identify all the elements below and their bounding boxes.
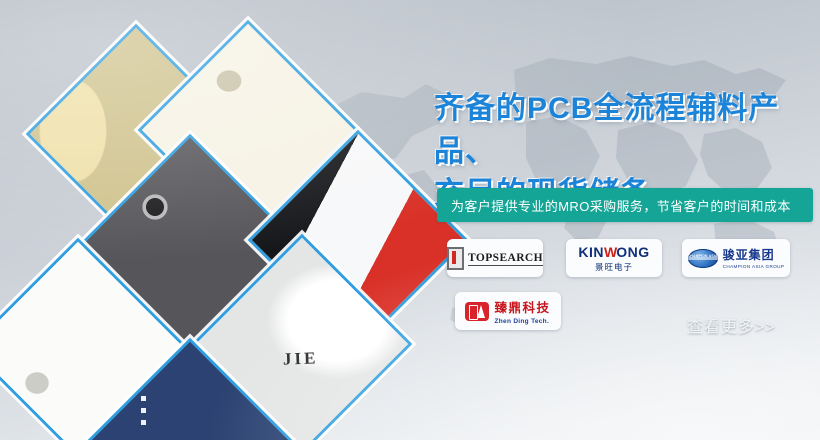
partner-logo-zhen-ding-label-cn: 臻鼎科技	[494, 301, 550, 315]
headline-line-1: 齐备的PCB全流程辅料产品、	[434, 92, 779, 168]
partner-logo-kinwong[interactable]: KINWONG 景旺电子	[566, 239, 662, 277]
subtitle-text: 为客户提供专业的MRO采购服务，节省客户的时间和成本	[437, 196, 791, 215]
topsearch-mark-icon	[447, 247, 464, 270]
partner-logo-zhen-ding-label-en: Zhen Ding Tech.	[494, 318, 550, 325]
partner-logo-champion-asia[interactable]: CHAMPION ASIA 骏亚集团 CHAMPION ASIA GROUP	[682, 239, 790, 277]
champion-asia-globe-icon: CHAMPION ASIA	[688, 249, 718, 268]
label-print-text: JIE	[283, 348, 319, 369]
subtitle-bar: 为客户提供专业的MRO采购服务，节省客户的时间和成本	[437, 188, 813, 222]
partner-logo-zhen-ding[interactable]: 臻鼎科技 Zhen Ding Tech.	[455, 292, 561, 330]
kinwong-w-icon: W	[604, 244, 616, 260]
kinwong-suffix: ONG	[616, 244, 649, 260]
partner-logo-champion-asia-label-cn: 骏亚集团	[723, 248, 775, 262]
blue-sheet-corner-dots	[133, 389, 146, 425]
partner-logo-kinwong-label-cn: 景旺电子	[578, 263, 649, 272]
promo-banner: JIE 齐备的PCB全流程辅料产品、 充足的现货储备 为客户提供专业的MRO采购…	[0, 0, 820, 440]
partner-logo-champion-asia-label-en: CHAMPION ASIA GROUP	[723, 265, 785, 270]
kinwong-prefix: KIN	[578, 244, 604, 260]
view-more-link[interactable]: 查看更多>>	[687, 313, 776, 337]
champion-asia-globe-label: CHAMPION ASIA	[688, 254, 718, 258]
zhen-ding-mark-icon	[465, 302, 489, 321]
partner-logo-topsearch-label: TOPSEARCH	[468, 252, 543, 266]
product-collage: JIE	[0, 0, 420, 440]
partner-logo-topsearch[interactable]: TOPSEARCH	[447, 239, 543, 277]
